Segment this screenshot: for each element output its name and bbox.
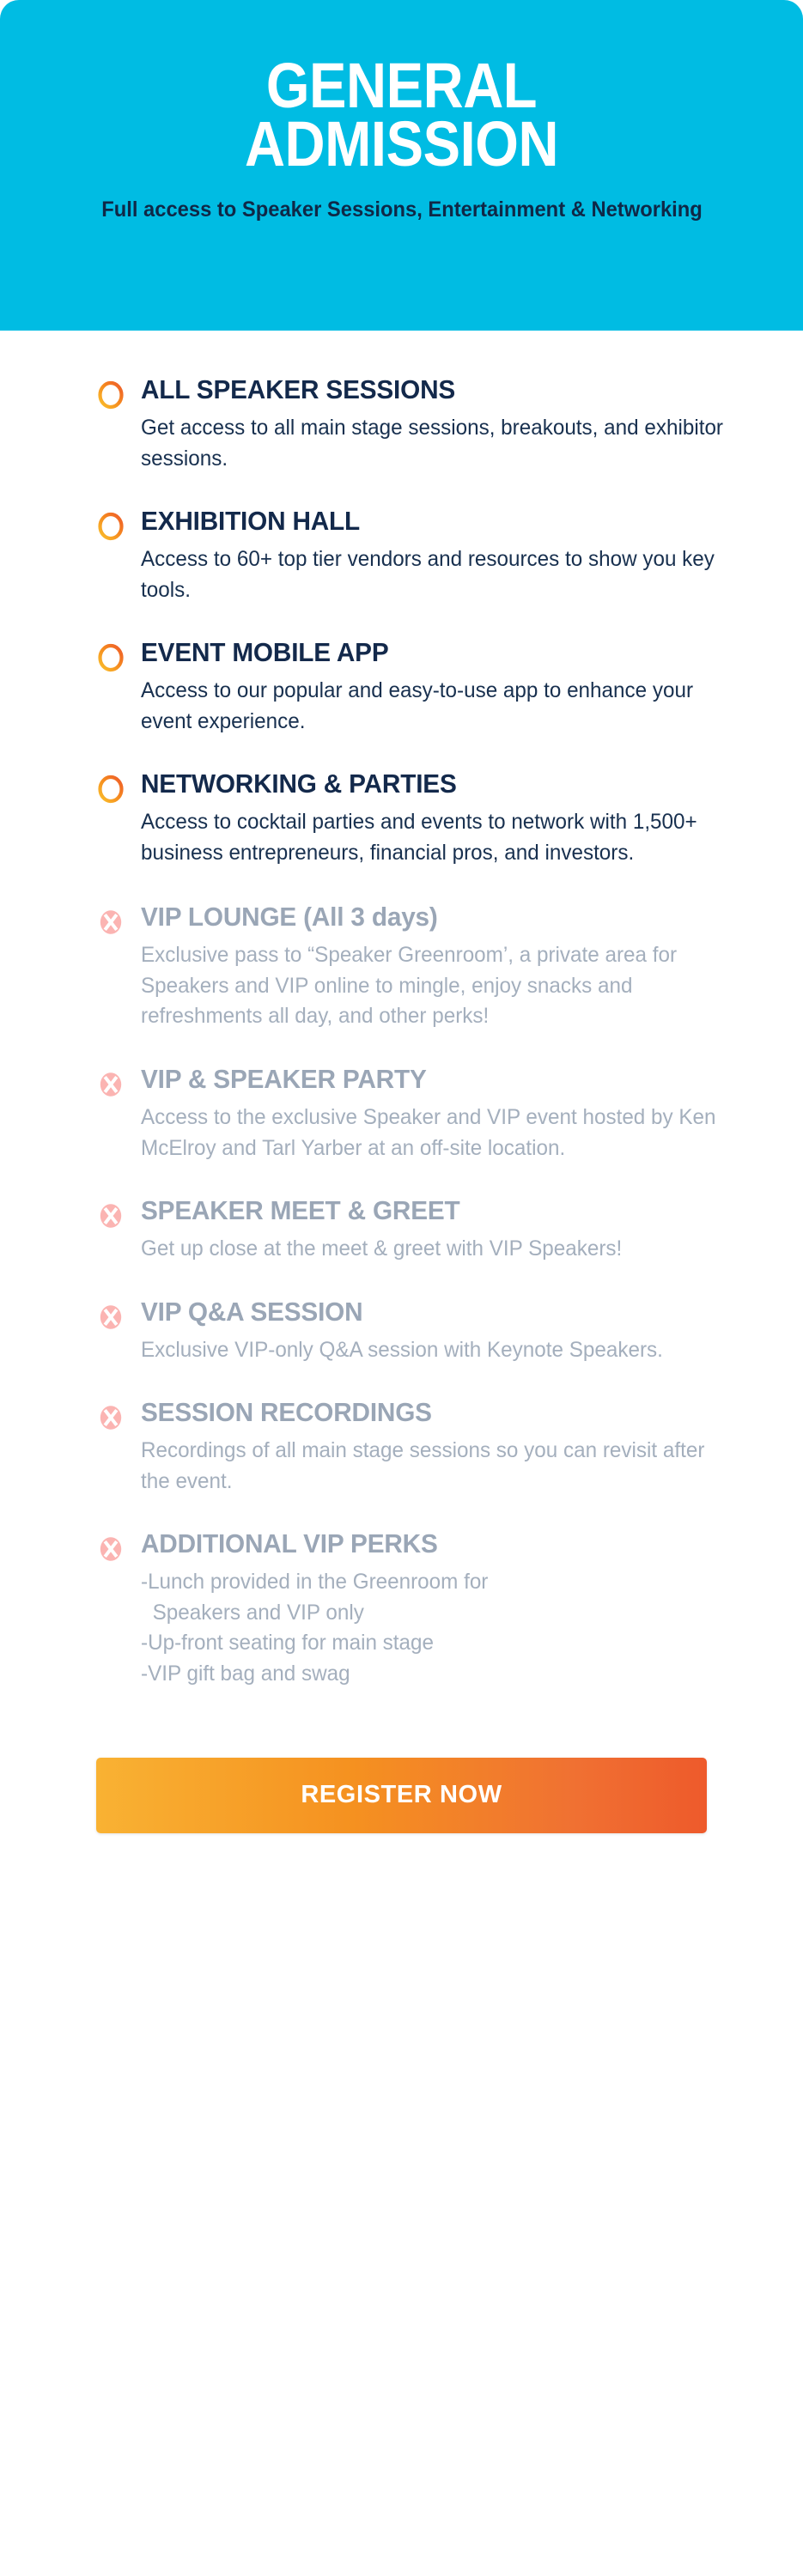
feature-description: Get access to all main stage sessions, b… — [141, 413, 735, 474]
list-item-body: VIP Q&A SESSION Exclusive VIP-only Q&A s… — [141, 1297, 753, 1366]
cta-container: REGISTER NOW — [0, 1722, 803, 1833]
list-item: ALL SPEAKER SESSIONS Get access to all m… — [0, 375, 803, 474]
feature-description: Access to the exclusive Speaker and VIP … — [141, 1103, 735, 1163]
perk-line: Speakers and VIP only — [141, 1598, 735, 1629]
feature-description: Exclusive VIP-only Q&A session with Keyn… — [141, 1335, 735, 1366]
orange-ring-icon — [96, 512, 125, 541]
perk-line: -Lunch provided in the Greenroom for — [141, 1567, 735, 1598]
pink-circle-x-icon — [96, 908, 125, 937]
feature-title: EVENT MOBILE APP — [141, 638, 728, 667]
pink-circle-x-icon — [96, 1201, 125, 1230]
orange-ring-icon — [96, 643, 125, 672]
perk-line: -VIP gift bag and swag — [141, 1659, 735, 1690]
pink-circle-x-icon — [96, 1070, 125, 1099]
list-item: SESSION RECORDINGS Recordings of all mai… — [0, 1398, 803, 1497]
register-now-button[interactable]: REGISTER NOW — [96, 1758, 707, 1833]
list-item-body: NETWORKING & PARTIES Access to cocktail … — [141, 769, 753, 868]
list-item: VIP Q&A SESSION Exclusive VIP-only Q&A s… — [0, 1297, 803, 1366]
feature-title: VIP LOUNGE (All 3 days) — [141, 902, 728, 932]
list-item: EVENT MOBILE APP Access to our popular a… — [0, 638, 803, 737]
feature-title: VIP & SPEAKER PARTY — [141, 1065, 728, 1094]
card-header: GENERAL ADMISSION Full access to Speaker… — [0, 0, 803, 331]
feature-description: Access to 60+ top tier vendors and resou… — [141, 544, 735, 605]
list-item-body: SPEAKER MEET & GREET Get up close at the… — [141, 1196, 753, 1265]
pink-circle-x-icon — [96, 1403, 125, 1432]
feature-description: Recordings of all main stage sessions so… — [141, 1436, 735, 1497]
list-item: ADDITIONAL VIP PERKS -Lunch provided in … — [0, 1529, 803, 1689]
feature-title: SPEAKER MEET & GREET — [141, 1196, 728, 1225]
header-subtitle: Full access to Speaker Sessions, Enterta… — [100, 196, 703, 223]
pricing-card: GENERAL ADMISSION Full access to Speaker… — [0, 0, 803, 2576]
list-item-body: EXHIBITION HALL Access to 60+ top tier v… — [141, 507, 753, 605]
list-item: VIP LOUNGE (All 3 days) Exclusive pass t… — [0, 902, 803, 1032]
feature-description: Get up close at the meet & greet with VI… — [141, 1234, 735, 1265]
pink-circle-x-icon — [96, 1303, 125, 1332]
feature-list: ALL SPEAKER SESSIONS Get access to all m… — [0, 331, 803, 1689]
list-item: SPEAKER MEET & GREET Get up close at the… — [0, 1196, 803, 1265]
list-item-body: EVENT MOBILE APP Access to our popular a… — [141, 638, 753, 737]
orange-ring-icon — [96, 775, 125, 804]
feature-description: Exclusive pass to “Speaker Greenroom’, a… — [141, 940, 735, 1032]
feature-title: VIP Q&A SESSION — [141, 1297, 728, 1327]
feature-title: ADDITIONAL VIP PERKS — [141, 1529, 728, 1558]
feature-description-perks: -Lunch provided in the Greenroom for Spe… — [141, 1567, 735, 1689]
perk-line: -Up-front seating for main stage — [141, 1628, 735, 1659]
feature-description: Access to our popular and easy-to-use ap… — [141, 676, 735, 737]
list-item-body: VIP LOUNGE (All 3 days) Exclusive pass t… — [141, 902, 753, 1032]
page-title: GENERAL ADMISSION — [94, 41, 709, 173]
orange-ring-icon — [96, 380, 125, 410]
pink-circle-x-icon — [96, 1534, 125, 1564]
list-item: VIP & SPEAKER PARTY Access to the exclus… — [0, 1065, 803, 1163]
list-item-body: ALL SPEAKER SESSIONS Get access to all m… — [141, 375, 753, 474]
feature-title: NETWORKING & PARTIES — [141, 769, 728, 799]
list-item: NETWORKING & PARTIES Access to cocktail … — [0, 769, 803, 868]
feature-description: Access to cocktail parties and events to… — [141, 807, 735, 868]
list-item: EXHIBITION HALL Access to 60+ top tier v… — [0, 507, 803, 605]
feature-title: SESSION RECORDINGS — [141, 1398, 728, 1427]
list-item-body: SESSION RECORDINGS Recordings of all mai… — [141, 1398, 753, 1497]
list-item-body: VIP & SPEAKER PARTY Access to the exclus… — [141, 1065, 753, 1163]
feature-title: ALL SPEAKER SESSIONS — [141, 375, 728, 404]
list-item-body: ADDITIONAL VIP PERKS -Lunch provided in … — [141, 1529, 753, 1689]
feature-title: EXHIBITION HALL — [141, 507, 728, 536]
